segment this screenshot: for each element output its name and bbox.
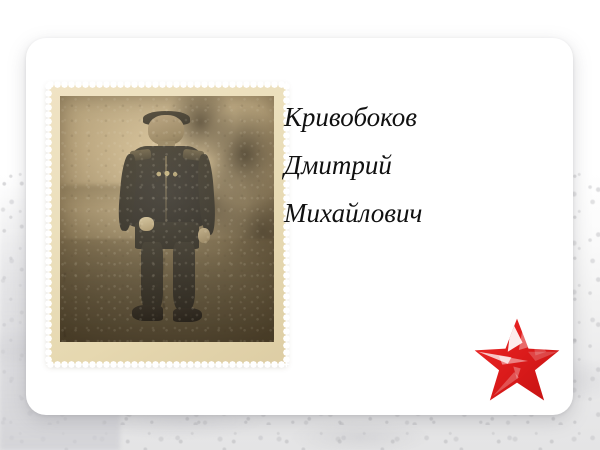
soldier-photograph bbox=[60, 96, 274, 342]
name-firstname: Дмитрий bbox=[284, 152, 534, 179]
photo-sepia-vignette bbox=[60, 96, 274, 342]
victory-star-icon bbox=[471, 315, 563, 407]
memorial-slide: Кривобоков Дмитрий Михайлович bbox=[0, 0, 600, 450]
name-surname: Кривобоков bbox=[284, 104, 534, 131]
name-patronymic: Михайлович bbox=[284, 200, 534, 227]
name-block: Кривобоков Дмитрий Михайлович bbox=[284, 104, 534, 227]
memorial-card: Кривобоков Дмитрий Михайлович bbox=[26, 38, 573, 415]
photo-scallop-left bbox=[45, 83, 52, 365]
photo-frame[interactable] bbox=[48, 84, 286, 364]
